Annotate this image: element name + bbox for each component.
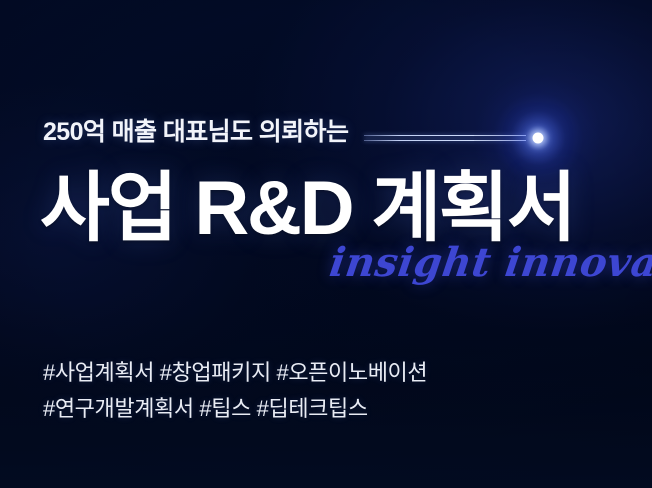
hashtag-line: #사업계획서 #창업패키지 #오픈이노베이션 [43, 355, 427, 391]
hashtag-line: #연구개발계획서 #팁스 #딥테크팁스 [43, 391, 427, 427]
page-title: 사업 R&D 계획서 [40, 171, 575, 247]
eyebrow-text: 250억 매출 대표님도 의뢰하는 [43, 112, 348, 148]
hashtag-group: #사업계획서 #창업패키지 #오픈이노베이션 #연구개발계획서 #팁스 #딥테크… [43, 355, 427, 427]
script-tagline: insight innovator [327, 243, 652, 283]
dot-core-icon [533, 133, 544, 144]
glowing-dot-icon [532, 132, 544, 144]
horizontal-rule-icon [364, 135, 526, 142]
promo-banner: 250억 매출 대표님도 의뢰하는 사업 R&D 계획서 insight inn… [0, 0, 652, 488]
eyebrow-row: 250억 매출 대표님도 의뢰하는 [43, 110, 632, 150]
